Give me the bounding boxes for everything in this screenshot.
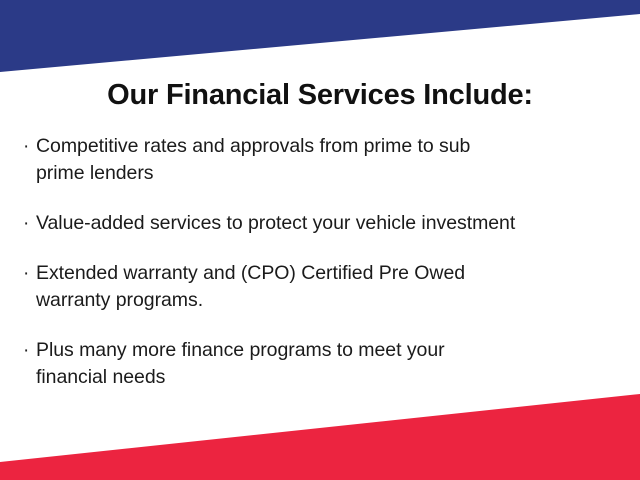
list-item: · Competitive rates and approvals from p… xyxy=(21,133,621,187)
bullet-list: · Competitive rates and approvals from p… xyxy=(21,133,621,391)
list-item-line: Value-added services to protect your veh… xyxy=(36,212,515,234)
list-item: · Plus many more finance programs to mee… xyxy=(21,337,621,391)
list-item-line: financial needs xyxy=(36,364,621,391)
top-band-shape xyxy=(0,0,640,72)
bullet-dot-icon: · xyxy=(21,210,36,237)
top-diagonal-band xyxy=(0,0,640,80)
list-item-text: Competitive rates and approvals from pri… xyxy=(36,133,621,187)
list-item-text: Value-added services to protect your veh… xyxy=(36,210,621,237)
list-item-line: prime lenders xyxy=(36,160,621,187)
page-title: Our Financial Services Include: xyxy=(0,78,640,112)
bottom-band-shape xyxy=(0,394,640,480)
list-item-line: Competitive rates and approvals from pri… xyxy=(36,135,470,157)
bullet-dot-icon: · xyxy=(21,337,36,364)
list-item-line: Plus many more finance programs to meet … xyxy=(36,339,445,361)
slide-canvas: Our Financial Services Include: · Compet… xyxy=(0,0,640,480)
bottom-diagonal-band xyxy=(0,385,640,480)
list-item: · Value-added services to protect your v… xyxy=(21,210,621,237)
list-item-line: Extended warranty and (CPO) Certified Pr… xyxy=(36,262,465,284)
list-item-text: Extended warranty and (CPO) Certified Pr… xyxy=(36,260,621,314)
list-item-line: warranty programs. xyxy=(36,287,621,314)
bullet-dot-icon: · xyxy=(21,260,36,287)
bullet-dot-icon: · xyxy=(21,133,36,160)
list-item-text: Plus many more finance programs to meet … xyxy=(36,337,621,391)
list-item: · Extended warranty and (CPO) Certified … xyxy=(21,260,621,314)
